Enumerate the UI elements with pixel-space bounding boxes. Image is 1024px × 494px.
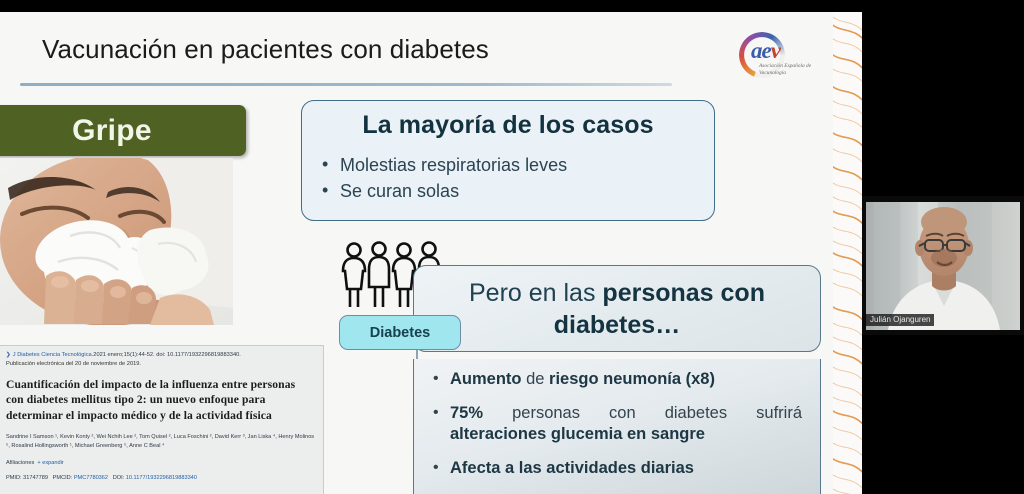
citation-authors: Sandrine I Samson ¹, Kevin Konty ², Wei …: [6, 433, 315, 451]
card-pero-personas-con-diabetes: Pero en las personas condiabetes…: [413, 265, 821, 352]
list-item: Aumento de riesgo neumonía (x8): [428, 369, 802, 390]
webcam-tile[interactable]: Julián Ojanguren: [862, 196, 1024, 335]
logo-subtitle: Asociación Española de Vacunología: [759, 63, 821, 76]
gripe-label-text: Gripe: [72, 114, 152, 148]
bullet-1-part-1: Aumento: [450, 370, 522, 388]
card-diabetes-bullets: Aumento de riesgo neumonía (x8) 75% pers…: [413, 359, 821, 494]
page-title: Vacunación en pacientes con diabetes: [42, 34, 742, 65]
card-pero-emphasis-2: diabetes…: [554, 311, 680, 339]
pmcid-link[interactable]: PMC7780362: [74, 475, 108, 481]
citation-identifiers: PMID: 31747789 PMCID: PMC7780362 DOI: 10…: [6, 474, 315, 482]
card-mayoria-bullet-list: Molestias respiratorias leves Se curan s…: [318, 152, 698, 204]
citation-epub-date: Publicación electrónica del 20 de noviem…: [6, 360, 315, 368]
citation-journal-line: ❯J Diabetes Ciencia Tecnológica.2021 ene…: [6, 351, 315, 359]
citation-journal-name[interactable]: J Diabetes Ciencia Tecnológica: [13, 352, 92, 358]
expand-affiliations-link[interactable]: + expandir: [37, 460, 63, 466]
card-mayoria-de-los-casos: La mayoría de los casos Molestias respir…: [301, 100, 715, 221]
decorative-wave-band: [833, 12, 862, 494]
citation-journal-details: .2021 enero;15(1):44-52. doi: 10.1177/19…: [92, 352, 241, 358]
screen-capture: Vacunación en pacientes con diabetes aev…: [0, 0, 1024, 494]
bullet-1-part-2: de: [522, 370, 550, 388]
bullet-1-part-3: riesgo neumonía (x8): [549, 370, 715, 388]
participant-name-label: Julián Ojanguren: [866, 314, 934, 326]
pubmed-citation-block: ❯J Diabetes Ciencia Tecnológica.2021 ene…: [0, 345, 324, 494]
doi-label: DOI:: [113, 475, 125, 481]
card-pero-lead: Pero en las: [469, 279, 602, 307]
citation-affiliations-label: Afiliaciones: [6, 460, 34, 466]
title-underline-rule: [20, 83, 672, 86]
logo-wordmark: aev: [751, 38, 780, 64]
logo-mark-ae: ae: [751, 38, 771, 63]
card-pero-text: Pero en las personas condiabetes…: [455, 277, 779, 341]
list-item: Se curan solas: [318, 178, 698, 204]
citation-affiliations-row[interactable]: Afiliaciones + expandir: [6, 459, 315, 467]
pmid-label: PMID:: [6, 475, 22, 481]
bullet-3-part-1: Afecta a las actividades diarias: [450, 459, 694, 477]
sneezing-man-photo: [0, 158, 233, 325]
diabetes-bullet-list: Aumento de riesgo neumonía (x8) 75% pers…: [428, 369, 802, 479]
wave-lines-icon: [833, 12, 862, 494]
gripe-label-box: Gripe: [0, 105, 246, 156]
list-item: Afecta a las actividades diarias: [428, 458, 802, 479]
card-mayoria-heading: La mayoría de los casos: [318, 111, 698, 140]
chevron-right-icon: ❯: [6, 352, 11, 358]
pmid-value: 31747789: [23, 475, 48, 481]
bullet-2-part-1: 75%: [450, 404, 483, 422]
logo-mark-v: v: [771, 38, 780, 63]
presentation-slide: Vacunación en pacientes con diabetes aev…: [0, 12, 862, 494]
webcam-video-feed: [866, 202, 1020, 330]
doi-link[interactable]: 10.1177/1932296819883340: [126, 475, 197, 481]
aev-logo: aev Asociación Española de Vacunología: [733, 30, 821, 88]
diabetes-chip-label: Diabetes: [370, 325, 430, 341]
pmcid-label: PMCID:: [53, 475, 73, 481]
bullet-2-part-3: alteraciones glucemia en sangre: [450, 425, 705, 443]
list-item: Molestias respiratorias leves: [318, 152, 698, 178]
diabetes-chip: Diabetes: [339, 315, 461, 350]
card-pero-emphasis-1: personas con: [602, 279, 765, 307]
citation-article-title: Cuantificación del impacto de la influen…: [6, 377, 315, 423]
list-item: 75% personas con diabetes sufrirá altera…: [428, 403, 802, 445]
person-head-icon: [348, 244, 361, 257]
bullet-2-part-2: personas con diabetes sufrirá: [483, 404, 802, 422]
